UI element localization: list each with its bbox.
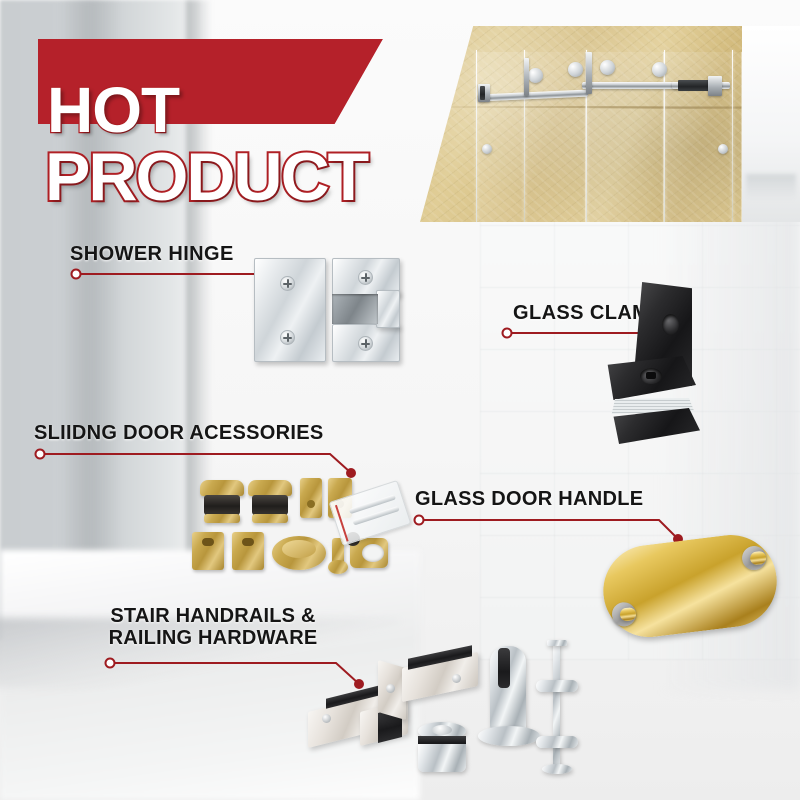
railing-clamp-angle-screw-1 xyxy=(386,684,395,693)
shower-hinge-product xyxy=(248,250,408,370)
callout-glass-door-handle: GLASS DOOR HANDLE xyxy=(415,488,643,511)
hero-glass-panel-right xyxy=(664,52,742,222)
hero-window xyxy=(742,26,800,222)
sda-roller-wheel-2 xyxy=(252,495,288,515)
title-hot: HOT xyxy=(47,78,179,142)
hero-door-knob-left xyxy=(482,144,492,154)
hinge-screw-bottom-left xyxy=(280,330,295,345)
sda-roller-base-1 xyxy=(204,514,240,523)
railing-post-cap xyxy=(547,640,567,646)
callout-stair-handrails-label-line1: STAIR HANDRAILS & xyxy=(88,605,338,627)
railing-post-tube xyxy=(553,642,560,768)
railing-spigot-slot xyxy=(498,648,510,688)
hinge-pin-recess xyxy=(332,294,378,324)
hero-roller-2 xyxy=(568,62,583,77)
sda-guide-hole-1 xyxy=(307,500,315,508)
sliding-door-accessories-product xyxy=(186,474,421,586)
glass-clamp-product xyxy=(600,282,770,452)
railing-clamp-left-screw xyxy=(322,714,331,723)
railing-post-clamp-lower xyxy=(536,736,578,748)
railing-clamp-angle-screw-2 xyxy=(452,674,461,683)
sda-bag-seal xyxy=(335,505,349,542)
railing-post-base xyxy=(542,764,572,774)
hero-bracket-shadow-left xyxy=(480,86,485,100)
sda-roller-wheel-1 xyxy=(204,495,240,515)
hinge-screw-top-right xyxy=(358,270,373,285)
glass-door-handle-product xyxy=(591,523,790,665)
hinge-screw-bottom-right xyxy=(358,336,373,351)
railing-hardware-product xyxy=(300,640,590,790)
callout-shower-hinge-label: SHOWER HINGE xyxy=(70,243,234,266)
callout-shower-hinge: SHOWER HINGE xyxy=(70,243,234,266)
hero-glass-edge-1 xyxy=(476,50,477,222)
hero-end-bracket-right xyxy=(708,76,722,96)
hero-track-dark-section xyxy=(678,80,712,91)
hinge-knuckle-body xyxy=(376,290,400,328)
shower-enclosure-photo xyxy=(420,26,800,222)
clamp-wall-hole xyxy=(662,314,679,335)
sdа-roller-cap-1 xyxy=(200,480,244,496)
sda-guide-block-1 xyxy=(300,478,322,518)
hero-glass-edge-4 xyxy=(664,50,665,222)
callout-sliding-door-accessories-label: SLIIDNG DOOR ACESSORIES xyxy=(34,422,324,445)
sda-round-flange-inner xyxy=(282,540,316,558)
sda-roller-cap-2 xyxy=(248,480,292,496)
hinge-plate-left xyxy=(254,258,326,362)
hero-vertical-stile-2 xyxy=(586,52,592,94)
railing-standoff-screw xyxy=(432,725,452,735)
clamp-hex-socket xyxy=(646,372,656,379)
hero-roller-1 xyxy=(528,68,543,83)
sda-pin-head xyxy=(328,560,348,574)
title-product: PRODUCT xyxy=(45,143,367,211)
sda-socket-slot-1 xyxy=(202,538,214,546)
railing-post-clamp-upper xyxy=(536,680,578,692)
hero-door-knob-right xyxy=(718,144,728,154)
callout-glass-door-handle-label: GLASS DOOR HANDLE xyxy=(415,488,643,511)
sda-socket-slot-2 xyxy=(242,538,254,546)
railing-spigot-base xyxy=(478,726,540,746)
callout-sliding-door-accessories: SLIIDNG DOOR ACESSORIES xyxy=(34,422,324,445)
hero-vertical-stile-1 xyxy=(524,58,529,96)
sda-ring-bore xyxy=(362,544,384,562)
hero-roller-4 xyxy=(652,62,667,77)
sda-roller-base-2 xyxy=(252,514,288,523)
hinge-screw-top-left xyxy=(280,276,295,291)
hot-product-poster: HOT PRODUCT SHOWER HINGE GLASS CLAMP xyxy=(0,0,800,800)
hero-glass-panel-mid xyxy=(586,52,664,222)
railing-standoff-body xyxy=(418,744,466,772)
hero-roller-3 xyxy=(600,60,615,75)
hero-glass-edge-5 xyxy=(732,50,733,222)
